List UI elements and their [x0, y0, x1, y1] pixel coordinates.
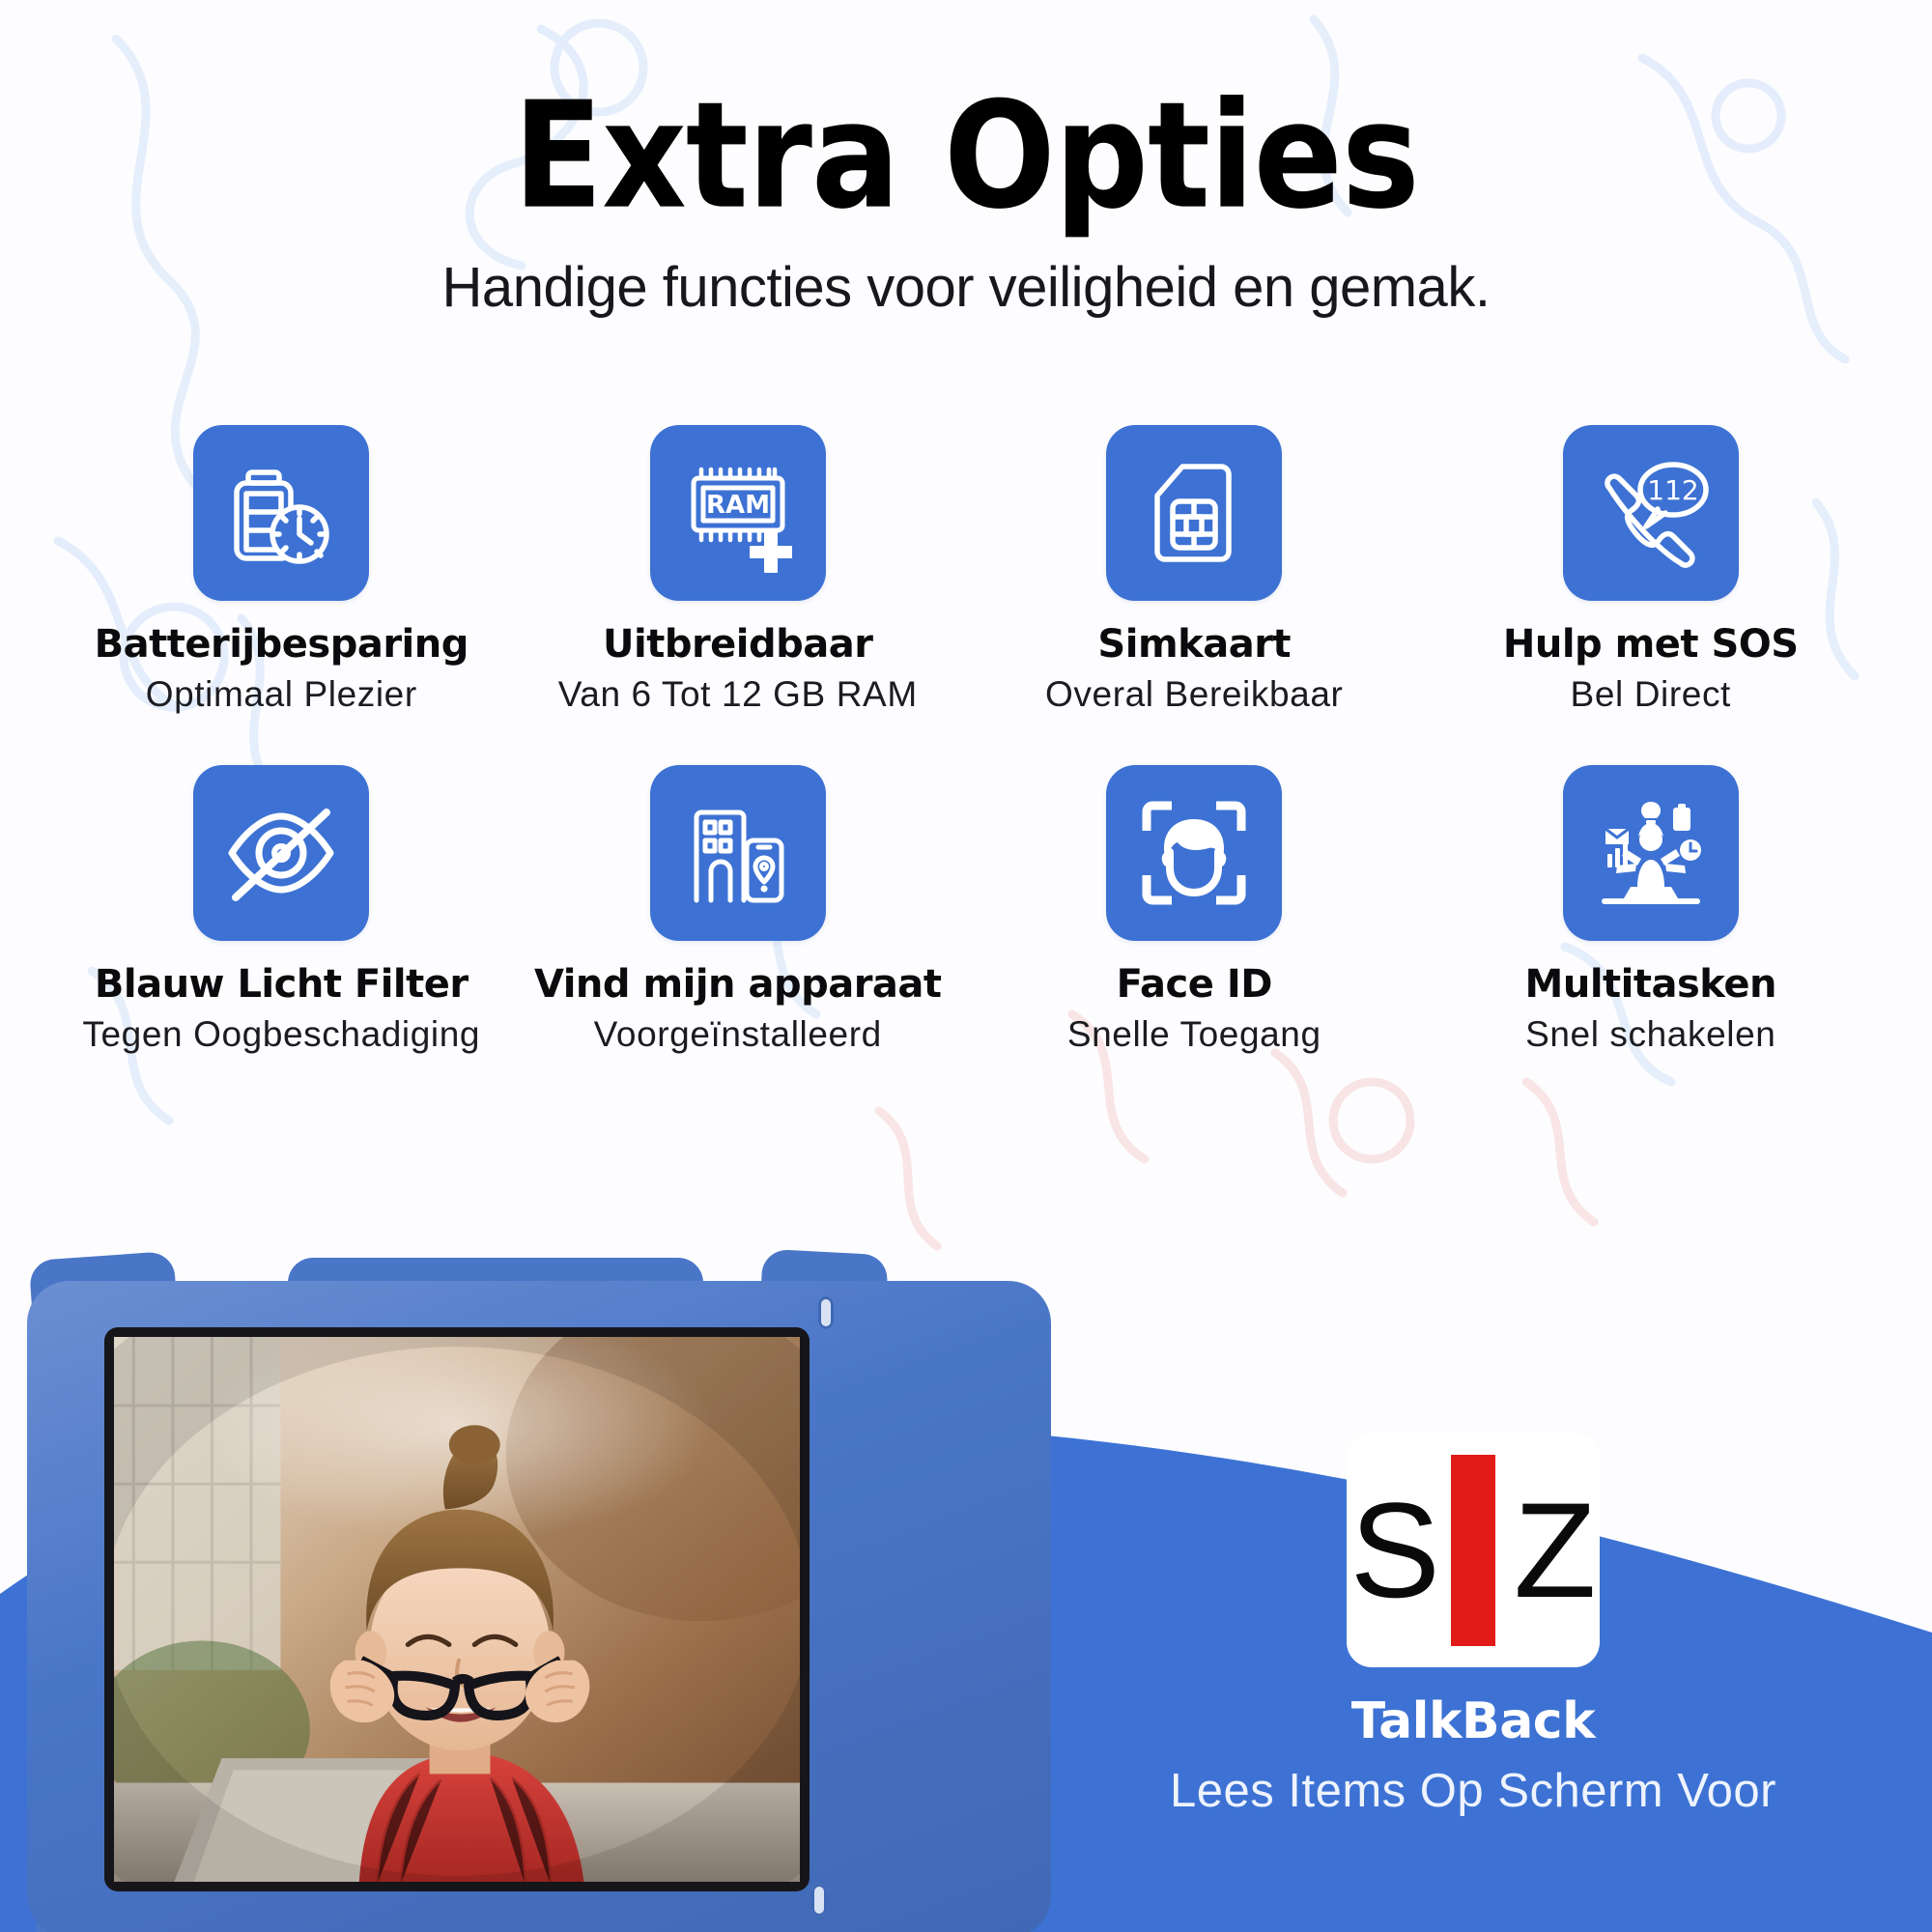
brand-feature-subtitle: Lees Items Op Scherm Voor	[1135, 1764, 1811, 1818]
ram-chip-plus-icon: RAM	[678, 453, 798, 573]
header: Extra Opties Handige functies voor veili…	[0, 83, 1932, 320]
child-with-glasses-photo	[114, 1337, 800, 1882]
infographic-page: Extra Opties Handige functies voor veili…	[0, 0, 1932, 1932]
feature-icon-tile	[193, 425, 369, 601]
feature-title: Uitbreidbaar	[603, 622, 873, 667]
feature-icon-tile	[193, 765, 369, 941]
feature-subtitle: Voorgeïnstalleerd	[594, 1014, 882, 1055]
feature-subtitle: Optimaal Plezier	[146, 674, 417, 715]
sos-number-label: 112	[1647, 474, 1698, 506]
feature-subtitle: Bel Direct	[1571, 674, 1731, 715]
sim-card-icon	[1136, 453, 1252, 573]
eye-slash-icon	[220, 795, 342, 911]
logo-letter-z: Z	[1514, 1483, 1597, 1618]
battery-clock-icon	[223, 455, 339, 571]
multitasking-person-icon	[1590, 794, 1712, 912]
sz-logo: S Z	[1347, 1434, 1600, 1667]
feature-subtitle: Van 6 Tot 12 GB RAM	[558, 674, 918, 715]
logo-letter-s: S	[1350, 1483, 1440, 1618]
feature-subtitle: Snel schakelen	[1525, 1014, 1776, 1055]
page-subtitle: Handige functies voor veiligheid en gema…	[0, 255, 1932, 320]
case-strap-hole-bottom	[811, 1884, 827, 1917]
feature-item-batterijbesparing: Batterijbesparing Optimaal Plezier	[53, 425, 510, 715]
brand-feature-title: TalkBack	[1135, 1692, 1811, 1750]
feature-icon-tile	[1563, 765, 1739, 941]
feature-item-uitbreidbaar: RAM Uitbreidbaar Van 6 Tot 12 GB RAM	[510, 425, 967, 715]
feature-title: Simkaart	[1097, 622, 1291, 667]
feature-grid: Batterijbesparing Optimaal Plezier RAM	[53, 425, 1879, 1055]
feature-title: Batterijbesparing	[95, 622, 469, 667]
feature-icon-tile	[1106, 765, 1282, 941]
feature-icon-tile: 112	[1563, 425, 1739, 601]
phone-sos-112-icon: 112	[1590, 453, 1712, 573]
feature-item-vind-mijn-apparaat: Vind mijn apparaat Voorgeïnstalleerd	[510, 765, 967, 1055]
feature-title: Blauw Licht Filter	[95, 962, 469, 1007]
feature-icon-tile	[1106, 425, 1282, 601]
brand-block: S Z TalkBack Lees Items Op Scherm Voor	[1135, 1434, 1811, 1818]
feature-icon-tile	[650, 765, 826, 941]
feature-item-hulp-met-sos: 112 Hulp met SOS Bel Direct	[1423, 425, 1880, 715]
logo-red-bar	[1451, 1455, 1495, 1646]
feature-item-simkaart: Simkaart Overal Bereikbaar	[966, 425, 1423, 715]
feature-title: Face ID	[1117, 962, 1272, 1007]
building-phone-location-icon	[679, 794, 797, 912]
feature-icon-tile: RAM	[650, 425, 826, 601]
feature-item-blauw-licht-filter: Blauw Licht Filter Tegen Oogbeschadiging	[53, 765, 510, 1055]
tablet-bezel	[104, 1327, 810, 1891]
feature-title: Vind mijn apparaat	[534, 962, 942, 1007]
feature-subtitle: Snelle Toegang	[1067, 1014, 1321, 1055]
page-title: Extra Opties	[0, 83, 1932, 230]
feature-title: Multitasken	[1525, 962, 1776, 1007]
case-strap-hole-top	[818, 1296, 834, 1329]
tablet-screen	[114, 1337, 800, 1882]
feature-item-multitasken: Multitasken Snel schakelen	[1423, 765, 1880, 1055]
feature-subtitle: Overal Bereikbaar	[1045, 674, 1343, 715]
feature-title: Hulp met SOS	[1503, 622, 1799, 667]
face-id-icon	[1135, 794, 1253, 912]
product-tablet	[27, 1281, 1051, 1932]
ram-icon-label: RAM	[706, 491, 770, 520]
feature-item-face-id: Face ID Snelle Toegang	[966, 765, 1423, 1055]
feature-subtitle: Tegen Oogbeschadiging	[82, 1014, 480, 1055]
